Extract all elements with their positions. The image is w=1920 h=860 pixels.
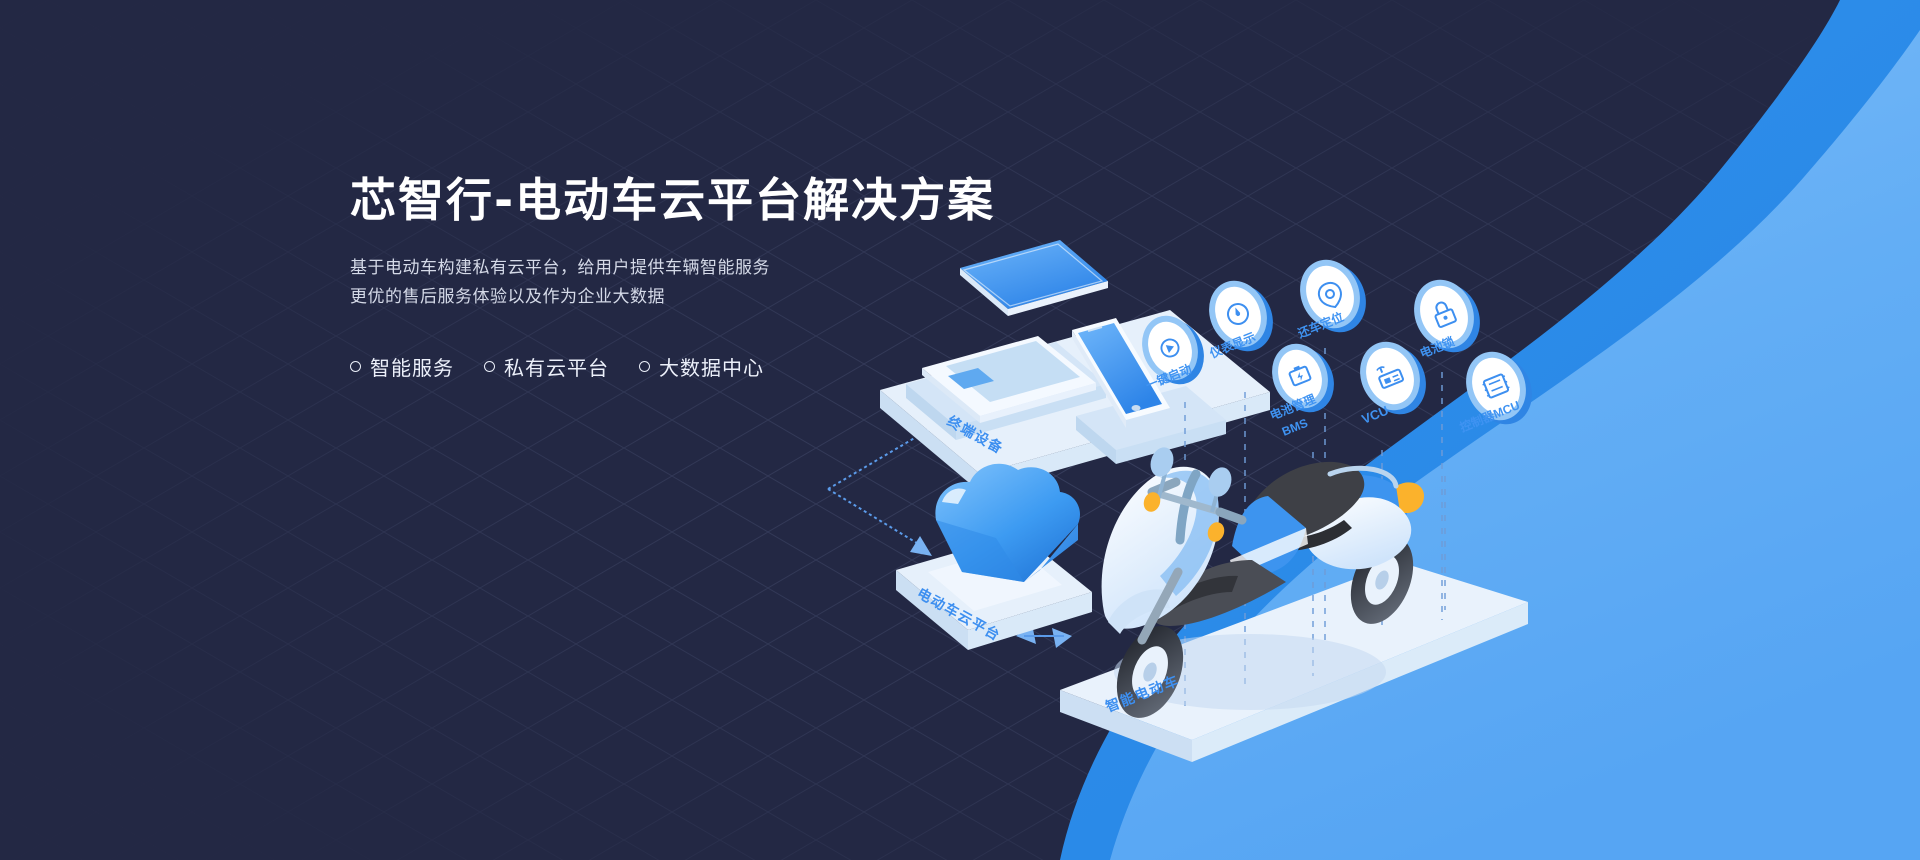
feature-item-big-data[interactable]: 大数据中心: [639, 352, 764, 381]
node-cloud-platform[interactable]: 电动车云平台: [896, 464, 1092, 650]
banner-stage: 芯智行-电动车云平台解决方案 基于电动车构建私有云平台，给用户提供车辆智能服务 …: [0, 0, 1920, 860]
capability-label: VCU: [1360, 403, 1391, 427]
feature-list: 智能服务 私有云平台 大数据中心: [350, 352, 1110, 381]
subtitle-line-1: 基于电动车构建私有云平台，给用户提供车辆智能服务: [350, 253, 1110, 283]
capability-battery-management[interactable]: 电池管理 BMS: [1263, 335, 1344, 438]
feature-label: 大数据中心: [659, 352, 764, 381]
capability-battery-lock[interactable]: 电池锁: [1404, 271, 1490, 362]
capability-label-line2: BMS: [1280, 416, 1310, 439]
banner-copy: 芯智行-电动车云平台解决方案 基于电动车构建私有云平台，给用户提供车辆智能服务 …: [350, 175, 1110, 381]
capability-dashboard-display[interactable]: 仪表显示: [1199, 272, 1282, 361]
circle-bullet-icon: [484, 361, 495, 372]
page-subtitle: 基于电动车构建私有云平台，给用户提供车辆智能服务 更优的售后服务体验以及作为企业…: [350, 253, 1110, 313]
feature-label: 私有云平台: [504, 352, 609, 381]
capability-controller-mcu[interactable]: 控制器MCU: [1456, 343, 1542, 435]
feature-item-private-cloud[interactable]: 私有云平台: [484, 352, 609, 381]
circle-bullet-icon: [350, 361, 361, 372]
capability-return-location[interactable]: 还车定位: [1290, 251, 1376, 342]
feature-item-smart-service[interactable]: 智能服务: [350, 352, 454, 381]
feature-label: 智能服务: [370, 352, 454, 381]
circle-bullet-icon: [639, 361, 650, 372]
page-title: 芯智行-电动车云平台解决方案: [350, 175, 1110, 227]
arrow-terminal-to-cloud-lower: [828, 489, 925, 548]
isometric-illustration: 终端设备 电动车云平台: [0, 0, 1920, 860]
subtitle-line-2: 更优的售后服务体验以及作为企业大数据: [350, 282, 1110, 312]
